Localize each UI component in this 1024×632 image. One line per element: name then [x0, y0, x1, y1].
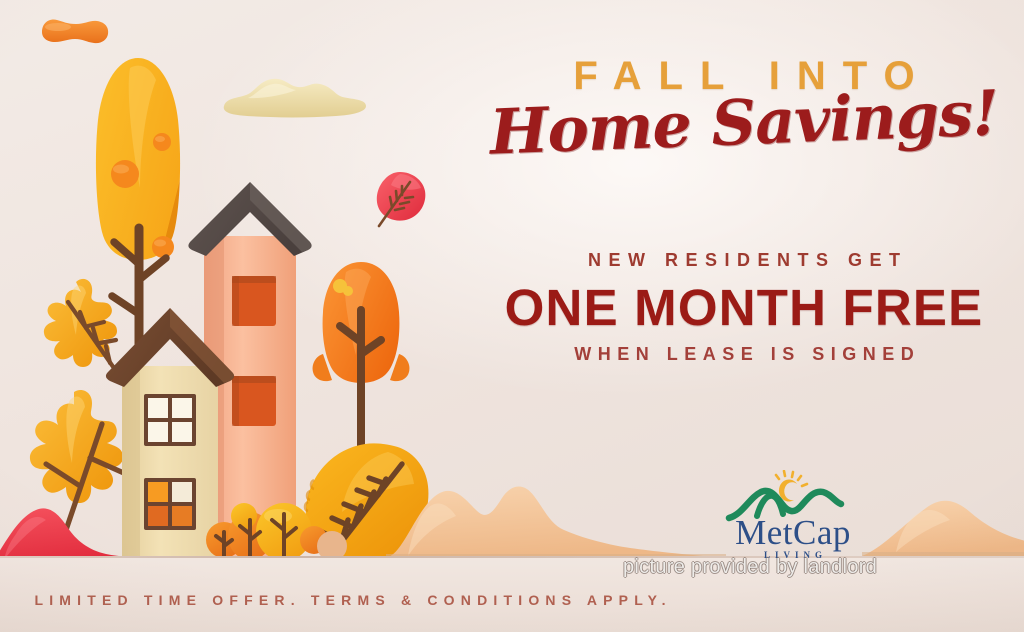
cream-cloud-icon [218, 68, 366, 131]
metcap-logo[interactable]: MetCap LIVING [718, 470, 868, 560]
offer-eyebrow: NEW RESIDENTS GET [470, 250, 1018, 271]
headline-home-savings: Home Savings! [469, 80, 1019, 166]
orange-cloud-icon [28, 14, 112, 55]
metcap-wordmark: MetCap [718, 516, 868, 549]
promo-banner: FALL INTO Home Savings! NEW RESIDENTS GE… [0, 0, 1024, 632]
red-floating-leaf-icon [366, 168, 432, 237]
watermark-text: picture provided by landlord [623, 556, 877, 579]
offer-headline: ONE MONTH FREE [470, 281, 1018, 335]
headline-block: FALL INTO Home Savings! [470, 56, 1018, 155]
offer-condition: WHEN LEASE IS SIGNED [470, 344, 1018, 365]
tan-hill-right [862, 470, 1024, 562]
offer-block: NEW RESIDENTS GET ONE MONTH FREE WHEN LE… [470, 250, 1018, 365]
footer-disclaimer: LIMITED TIME OFFER. TERMS & CONDITIONS A… [0, 592, 700, 608]
tan-hill-center [386, 450, 726, 562]
